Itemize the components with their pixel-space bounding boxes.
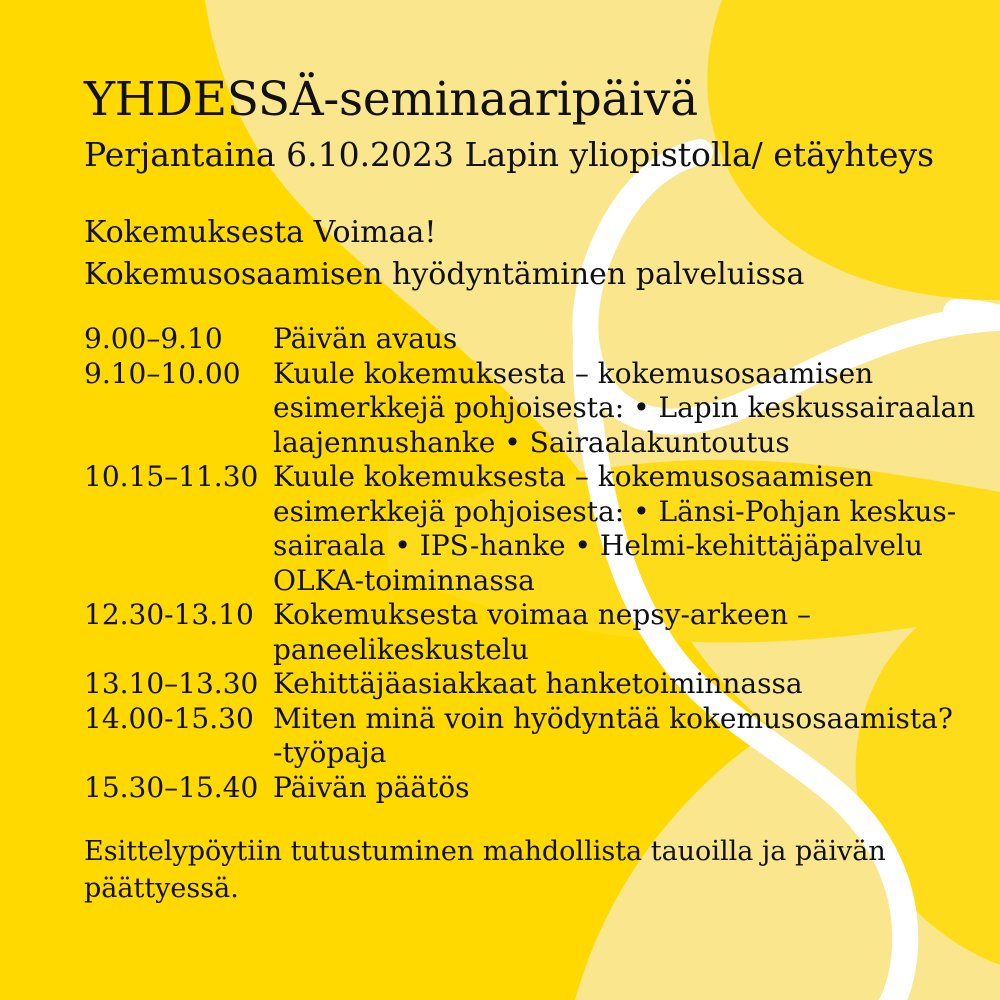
schedule-desc-line: paneelikeskustelu xyxy=(273,633,964,668)
schedule-row: 10.15–11.30 Kuule kokemuksesta – kokemus… xyxy=(84,460,964,598)
page-title: YHDESSÄ-seminaaripäivä xyxy=(84,72,698,127)
schedule-description: Kuule kokemuksesta – kokemusosaamisen es… xyxy=(273,357,975,461)
schedule-row: 15.30–15.40 Päivän päätös xyxy=(84,771,964,806)
footnote-line-2: päättyessä. xyxy=(84,870,886,907)
schedule-desc-line: esimerkkejä pohjoisesta: • Länsi-Pohjan … xyxy=(273,495,964,530)
schedule-time: 15.30–15.40 xyxy=(84,771,273,806)
schedule-desc-line: sairaala • IPS-hanke • Helmi-kehittäjäpa… xyxy=(273,529,964,564)
schedule-row: 9.00–9.10 Päivän avaus xyxy=(84,322,964,357)
schedule-desc-line: laajennushanke • Sairaalakuntoutus xyxy=(273,426,975,461)
lead-block: Kokemuksesta Voimaa! Kokemusosaamisen hy… xyxy=(84,212,804,296)
schedule-row: 14.00-15.30 Miten minä voin hyödyntää ko… xyxy=(84,702,964,771)
schedule-description: Kokemuksesta voimaa nepsy-arkeen – panee… xyxy=(273,598,964,667)
date-location-line: Perjantaina 6.10.2023 Lapin yliopistolla… xyxy=(84,135,934,174)
schedule-desc-line: OLKA-toiminnassa xyxy=(273,564,964,599)
schedule-description: Miten minä voin hyödyntää kokemusosaamis… xyxy=(273,702,964,771)
schedule-desc-line: Kuule kokemuksesta – kokemusosaamisen xyxy=(273,357,975,392)
schedule-time: 10.15–11.30 xyxy=(84,460,273,495)
schedule-desc-line: Päivän päätös xyxy=(273,771,964,806)
schedule-time: 13.10–13.30 xyxy=(84,667,273,702)
poster-content: YHDESSÄ-seminaaripäivä Perjantaina 6.10.… xyxy=(0,0,1000,1000)
schedule-list: 9.00–9.10 Päivän avaus 9.10–10.00 Kuule … xyxy=(84,322,964,805)
schedule-row: 12.30-13.10 Kokemuksesta voimaa nepsy-ar… xyxy=(84,598,964,667)
schedule-desc-line: esimerkkejä pohjoisesta: • Lapin keskuss… xyxy=(273,391,975,426)
footnote-line-1: Esittelypöytiin tutustuminen mahdollista… xyxy=(84,833,886,870)
schedule-row: 13.10–13.30 Kehittäjäasiakkaat hanketoim… xyxy=(84,667,964,702)
schedule-description: Päivän päätös xyxy=(273,771,964,806)
seminar-poster: YHDESSÄ-seminaaripäivä Perjantaina 6.10.… xyxy=(0,0,1000,1000)
schedule-description: Kuule kokemuksesta – kokemusosaamisen es… xyxy=(273,460,964,598)
schedule-desc-line: Päivän avaus xyxy=(273,322,964,357)
schedule-description: Päivän avaus xyxy=(273,322,964,357)
schedule-desc-line: Kokemuksesta voimaa nepsy-arkeen – xyxy=(273,598,964,633)
schedule-time: 12.30-13.10 xyxy=(84,598,273,633)
schedule-description: Kehittäjäasiakkaat hanketoiminnassa xyxy=(273,667,964,702)
lead-line-1: Kokemuksesta Voimaa! xyxy=(84,212,804,254)
schedule-time: 9.10–10.00 xyxy=(84,357,273,392)
lead-line-2: Kokemusosaamisen hyödyntäminen palveluis… xyxy=(84,254,804,296)
schedule-desc-line: Kuule kokemuksesta – kokemusosaamisen xyxy=(273,460,964,495)
schedule-desc-line: Miten minä voin hyödyntää kokemusosaamis… xyxy=(273,702,964,737)
schedule-time: 14.00-15.30 xyxy=(84,702,273,737)
schedule-row: 9.10–10.00 Kuule kokemuksesta – kokemuso… xyxy=(84,357,964,461)
schedule-desc-line: Kehittäjäasiakkaat hanketoiminnassa xyxy=(273,667,964,702)
footnote: Esittelypöytiin tutustuminen mahdollista… xyxy=(84,833,886,907)
schedule-time: 9.00–9.10 xyxy=(84,322,273,357)
schedule-desc-line: -työpaja xyxy=(273,736,964,771)
